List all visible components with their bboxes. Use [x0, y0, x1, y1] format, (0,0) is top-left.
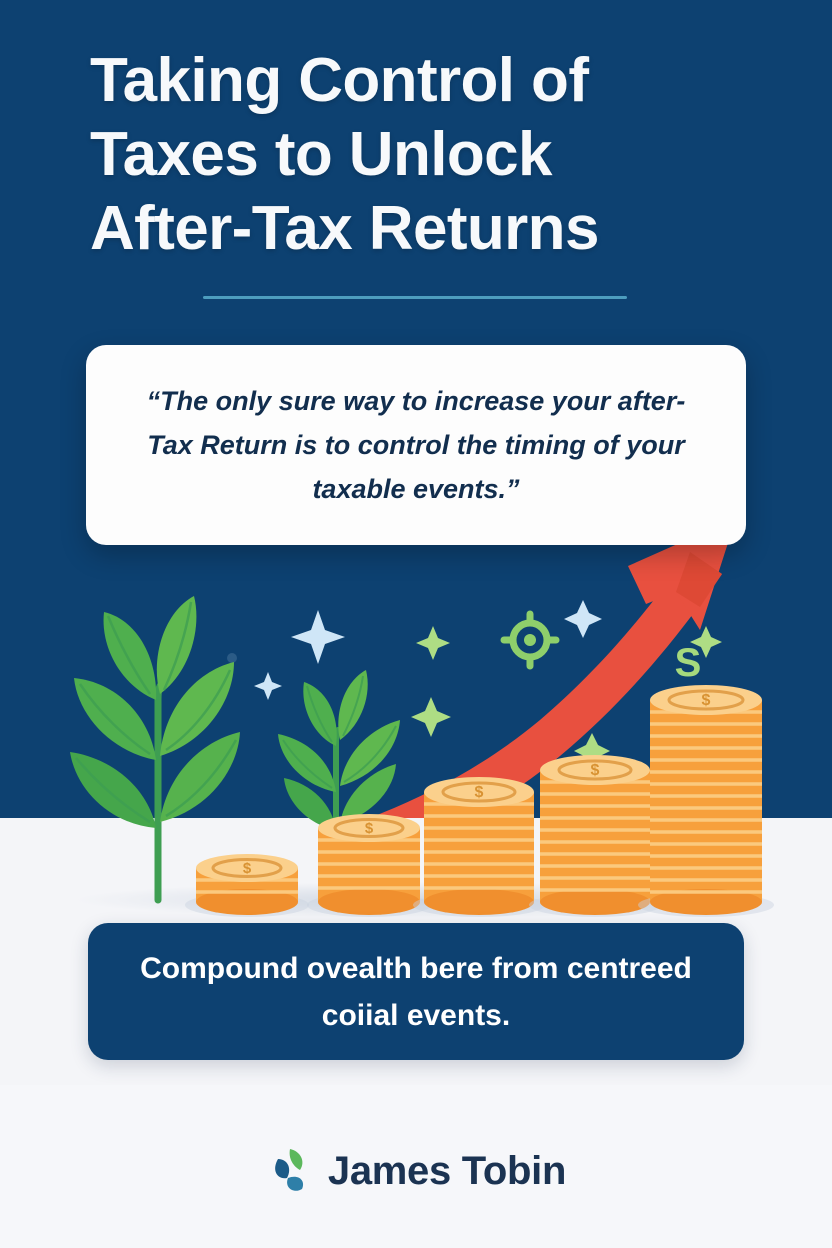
- sparkle-icon: [564, 600, 602, 638]
- logo-drop-shape: [275, 1159, 289, 1178]
- svg-text:$: $: [475, 784, 484, 801]
- logo-teal-shape: [287, 1177, 303, 1191]
- poster-root: S: [0, 0, 832, 1248]
- svg-text:$: $: [702, 692, 711, 709]
- page-title: Taking Control of Taxes to Unlock After-…: [90, 44, 750, 266]
- svg-text:$: $: [243, 860, 252, 877]
- svg-text:$: $: [365, 820, 374, 837]
- caption-text: Compound ovealth bere from centreed coii…: [136, 945, 696, 1039]
- james-tobin-logo-icon: [266, 1147, 312, 1195]
- title-line-2: Taxes to Unlock: [90, 118, 750, 192]
- title-line-3: After-Tax Returns: [90, 192, 750, 266]
- sparkle-icon: [254, 672, 282, 700]
- quote-card: “The only sure way to increase your afte…: [86, 345, 746, 545]
- dollar-s-glyph: S: [675, 641, 702, 685]
- brand-footer: James Tobin: [0, 1140, 832, 1202]
- sparkle-icon: [416, 626, 450, 660]
- svg-text:$: $: [591, 762, 600, 779]
- title-line-1: Taking Control of: [90, 44, 750, 118]
- sparkle-icon: [411, 697, 451, 737]
- dot-accent-icon: [227, 653, 237, 663]
- sparkle-icon: [291, 610, 345, 664]
- logo-leaf-shape: [289, 1149, 302, 1170]
- coin-stack-3: $: [413, 777, 545, 917]
- coin-stack-4: $: [529, 755, 661, 917]
- caption-bar: Compound ovealth bere from centreed coii…: [88, 923, 744, 1060]
- brand-name: James Tobin: [328, 1147, 566, 1195]
- target-coin-icon: [504, 614, 556, 666]
- title-divider: [203, 296, 627, 299]
- coin-stack-1: $: [185, 854, 309, 917]
- quote-text: “The only sure way to increase your afte…: [126, 379, 706, 511]
- coin-stack-5: $: [638, 685, 774, 917]
- coin-stack-2: $: [307, 814, 431, 917]
